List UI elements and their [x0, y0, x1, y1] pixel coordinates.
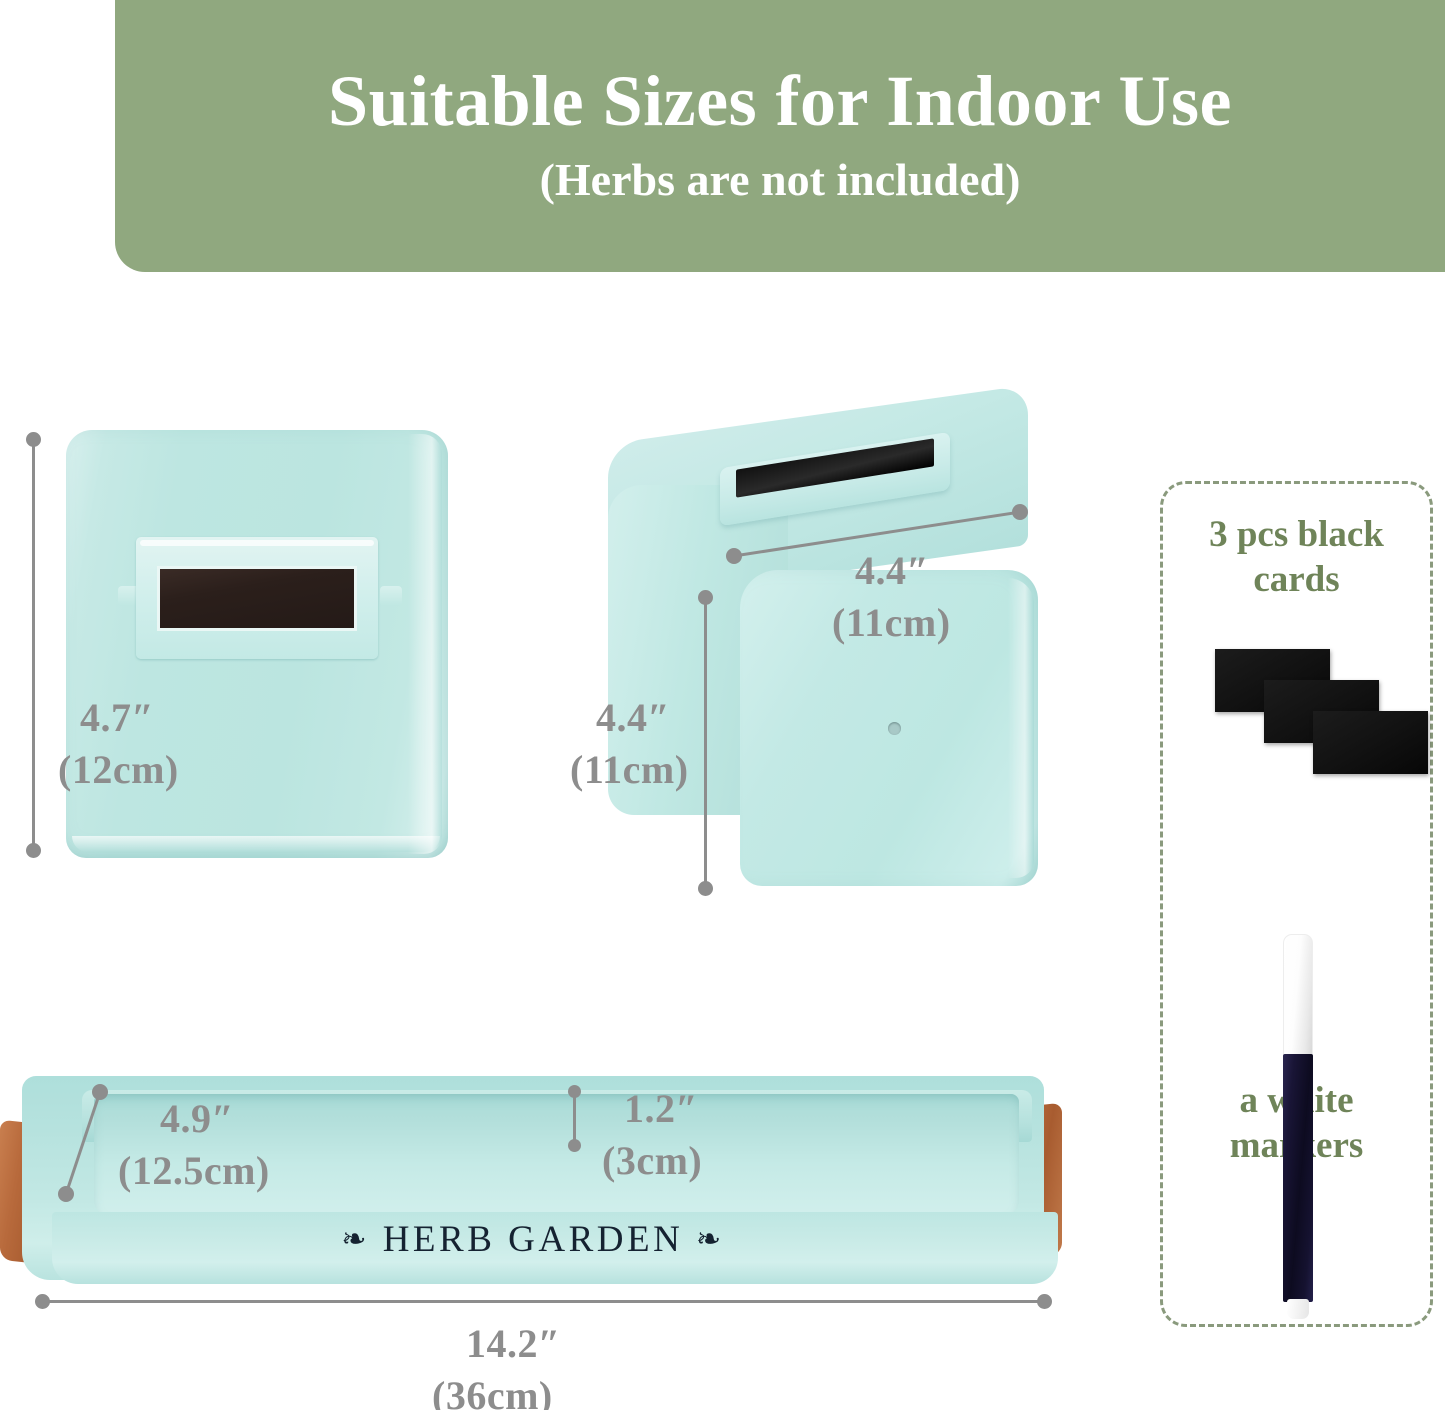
black-cards-caption-line2: cards [1163, 557, 1430, 602]
dimension-line-tray-rim [573, 1090, 576, 1145]
marker-body [1283, 1054, 1313, 1302]
laurel-left-icon: ❧ [341, 1223, 370, 1256]
dimension-label-box-front-height-metric: (12cm) [58, 744, 179, 795]
box-bottom-lip [72, 836, 440, 852]
dimension-line-box-front-height [32, 438, 35, 850]
header-banner: Suitable Sizes for Indoor Use (Herbs are… [115, 0, 1445, 272]
black-chalk-card [157, 566, 357, 631]
dimension-label-tray-width-metric: (36cm) [432, 1370, 553, 1410]
drain-hole [888, 722, 901, 735]
dimension-label-tray-rim-metric: (3cm) [602, 1135, 702, 1186]
marker-cap [1283, 934, 1313, 1057]
page-title: Suitable Sizes for Indoor Use [115, 2, 1445, 140]
tray-logo-text: HERB GARDEN [383, 1219, 684, 1260]
dimension-label-tray-depth-inches: 4.9″ [160, 1093, 234, 1144]
laurel-right-icon: ❧ [696, 1223, 725, 1256]
marker-tip [1287, 1299, 1309, 1319]
dimension-dot-top [26, 432, 41, 447]
dimension-label-tray-rim-inches: 1.2″ [624, 1083, 698, 1134]
dimension-dot-bottom [26, 843, 41, 858]
dimension-dot-top [698, 590, 713, 605]
dimension-dot-bottom [568, 1139, 581, 1152]
dimension-label-tray-depth-metric: (12.5cm) [118, 1145, 270, 1196]
dimension-dot-left [35, 1294, 50, 1309]
infographic-page: Suitable Sizes for Indoor Use (Herbs are… [0, 0, 1445, 1410]
page-subtitle: (Herbs are not included) [115, 140, 1445, 204]
dimension-dot-top [568, 1085, 581, 1098]
dimension-line-tray-width [42, 1300, 1042, 1303]
label-holder-tab-right [380, 586, 402, 606]
black-cards-caption-line1: 3 pcs black [1163, 512, 1430, 557]
dimension-label-box-perspective-width-inches: 4.4″ [855, 545, 929, 596]
black-cards-caption: 3 pcs black cards [1163, 512, 1430, 602]
dimension-label-box-front-height-inches: 4.7″ [80, 692, 154, 743]
dimension-label-box-perspective-width-metric: (11cm) [832, 597, 951, 648]
dimension-label-box-perspective-height-inches: 4.4″ [596, 692, 670, 743]
dimension-dot-right [1037, 1294, 1052, 1309]
accessories-panel: 3 pcs black cards a white markers [1160, 481, 1433, 1327]
white-marker-pen [1281, 934, 1315, 1319]
dimension-dot-bottom [698, 881, 713, 896]
tray-logo: ❧ HERB GARDEN ❧ [0, 1218, 1066, 1261]
dimension-line-box-perspective-height [704, 596, 707, 888]
black-card [1313, 711, 1428, 774]
dimension-label-tray-width-inches: 14.2″ [466, 1318, 561, 1369]
dimension-label-box-perspective-height-metric: (11cm) [570, 744, 689, 795]
